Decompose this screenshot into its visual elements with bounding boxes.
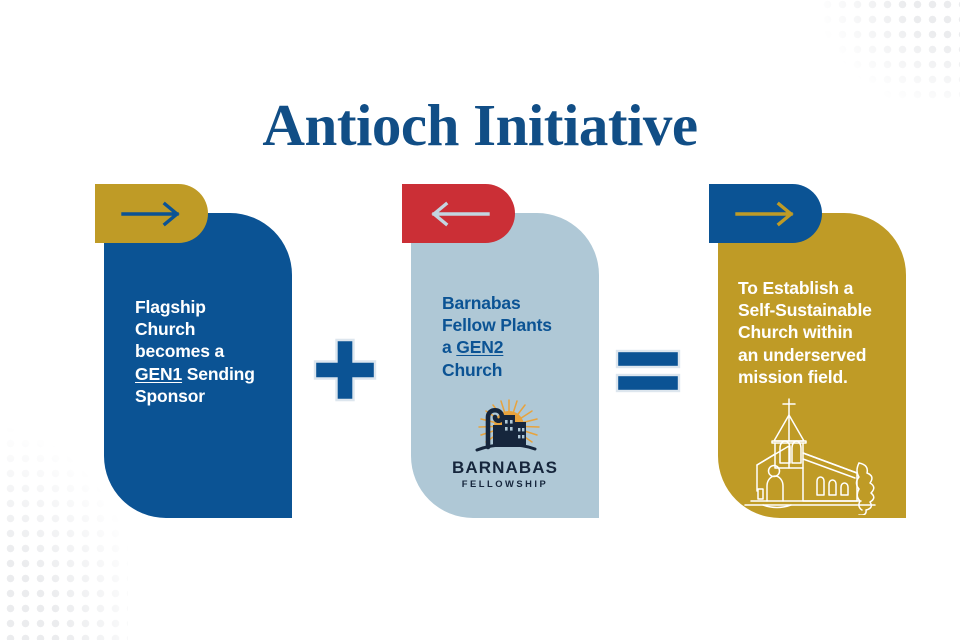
- card-text: Flagship Church becomes a GEN1 Sending S…: [135, 296, 280, 407]
- card-line-5: mission field.: [738, 367, 848, 387]
- card-text: Barnabas Fellow Plants a GEN2 Church: [442, 292, 587, 381]
- arrow-right-icon: [121, 201, 183, 227]
- infographic-canvas: Antioch Initiative Flagship Church becom…: [0, 0, 960, 640]
- fellowship-wordmark: FELLOWSHIP: [447, 478, 563, 489]
- card-line-3: becomes a: [135, 341, 224, 361]
- card-tab: [709, 184, 822, 243]
- card-text: To Establish a Self-Sustainable Church w…: [738, 277, 898, 388]
- card-line-4: Church: [442, 360, 502, 380]
- card-emphasis-gen2: GEN2: [456, 337, 503, 357]
- card-tab: [402, 184, 515, 243]
- barnabas-wordmark: BARNABAS: [447, 458, 563, 478]
- card-barnabas-fellow: Barnabas Fellow Plants a GEN2 Church: [411, 213, 599, 518]
- card-line-1: Flagship: [135, 297, 206, 317]
- church-line-art: [741, 393, 889, 515]
- page-title: Antioch Initiative: [0, 91, 960, 160]
- barnabas-logo-mark: [447, 398, 563, 456]
- equals-sign: [612, 332, 684, 408]
- card-line-2: Self-Sustainable: [738, 300, 872, 320]
- top-right-dot-pattern: [820, 0, 960, 102]
- card-flagship-church: Flagship Church becomes a GEN1 Sending S…: [104, 213, 292, 518]
- card-emphasis-gen1: GEN1: [135, 364, 182, 384]
- card-line-1: Barnabas: [442, 293, 521, 313]
- card-line-3-prefix: a: [442, 337, 456, 357]
- card-tab: [95, 184, 208, 243]
- card-line-4: an underserved: [738, 345, 866, 365]
- card-line-4-suffix: Sending: [182, 364, 255, 384]
- card-self-sustainable-church: To Establish a Self-Sustainable Church w…: [718, 213, 906, 518]
- plus-sign: [309, 332, 381, 408]
- card-line-3: Church within: [738, 322, 853, 342]
- arrow-right-icon: [735, 201, 797, 227]
- card-line-2: Church: [135, 319, 195, 339]
- card-line-5: Sponsor: [135, 386, 205, 406]
- barnabas-fellowship-logo: BARNABAS FELLOWSHIP: [447, 398, 563, 502]
- card-line-1: To Establish a: [738, 278, 853, 298]
- card-line-2: Fellow Plants: [442, 315, 552, 335]
- arrow-left-icon: [428, 201, 490, 227]
